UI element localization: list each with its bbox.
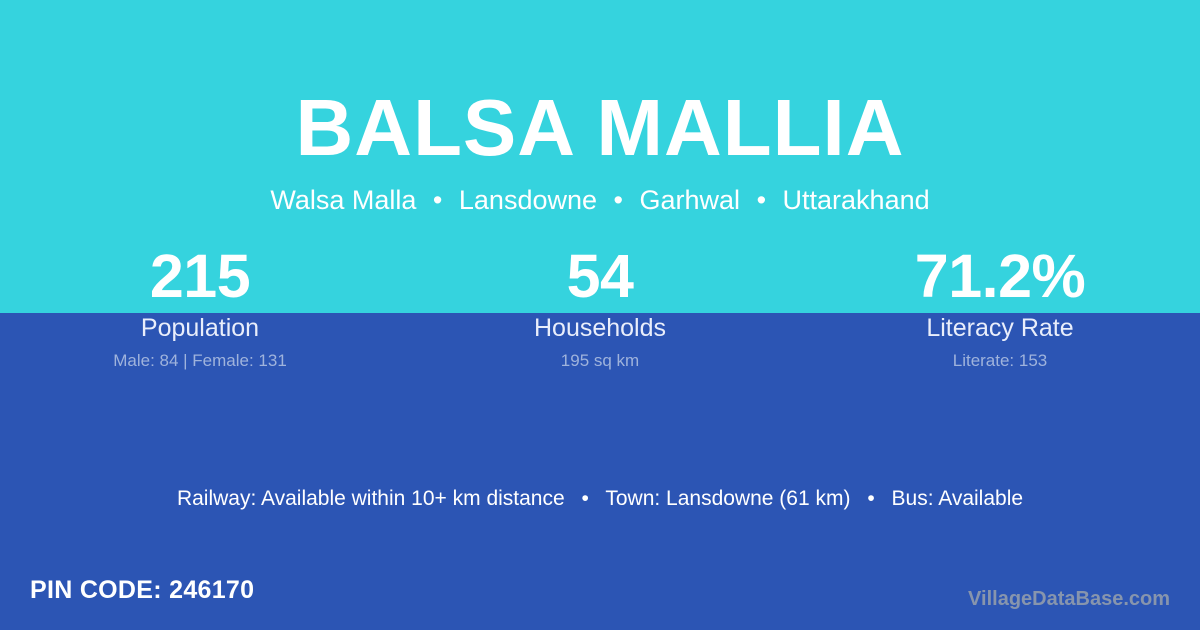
village-info-card: BALSA MALLIA Walsa Malla • Lansdowne • G… bbox=[0, 0, 1200, 630]
pin-code: PIN CODE: 246170 bbox=[30, 574, 254, 606]
site-watermark: VillageDataBase.com bbox=[968, 586, 1170, 612]
breadcrumb-item-1: Lansdowne bbox=[459, 185, 597, 215]
breadcrumb-item-0: Walsa Malla bbox=[270, 185, 416, 215]
amenities-row: Railway: Available within 10+ km distanc… bbox=[0, 484, 1200, 514]
breadcrumb-separator-0: • bbox=[424, 183, 451, 217]
breadcrumb-separator-1: • bbox=[605, 183, 632, 217]
amenities-separator-1: • bbox=[856, 484, 885, 514]
breadcrumb: Walsa Malla • Lansdowne • Garhwal • Utta… bbox=[0, 183, 1200, 217]
stats-row: 215 Population Male: 84 | Female: 131 54… bbox=[0, 243, 1200, 383]
stat-population: 215 Population Male: 84 | Female: 131 bbox=[0, 243, 400, 383]
amenity-town: Town: Lansdowne (61 km) bbox=[605, 487, 850, 510]
stat-literacy-rate: 71.2% Literacy Rate Literate: 153 bbox=[800, 243, 1200, 383]
stat-label-population: Population bbox=[0, 313, 400, 343]
breadcrumb-item-3: Uttarakhand bbox=[783, 185, 930, 215]
stat-sub-households: 195 sq km bbox=[400, 350, 800, 371]
stat-sub-population: Male: 84 | Female: 131 bbox=[0, 350, 400, 371]
amenity-railway: Railway: Available within 10+ km distanc… bbox=[177, 487, 565, 510]
stat-value-literacy-rate: 71.2% bbox=[800, 243, 1200, 309]
page-title: BALSA MALLIA bbox=[0, 84, 1200, 172]
stat-households: 54 Households 195 sq km bbox=[400, 243, 800, 383]
breadcrumb-separator-2: • bbox=[748, 183, 775, 217]
breadcrumb-item-2: Garhwal bbox=[640, 185, 741, 215]
amenities-separator-0: • bbox=[571, 484, 600, 514]
stat-sub-literacy-rate: Literate: 153 bbox=[800, 350, 1200, 371]
stat-label-literacy-rate: Literacy Rate bbox=[800, 313, 1200, 343]
amenity-bus: Bus: Available bbox=[892, 487, 1024, 510]
stat-value-population: 215 bbox=[0, 243, 400, 309]
stat-label-households: Households bbox=[400, 313, 800, 343]
stat-value-households: 54 bbox=[400, 243, 800, 309]
